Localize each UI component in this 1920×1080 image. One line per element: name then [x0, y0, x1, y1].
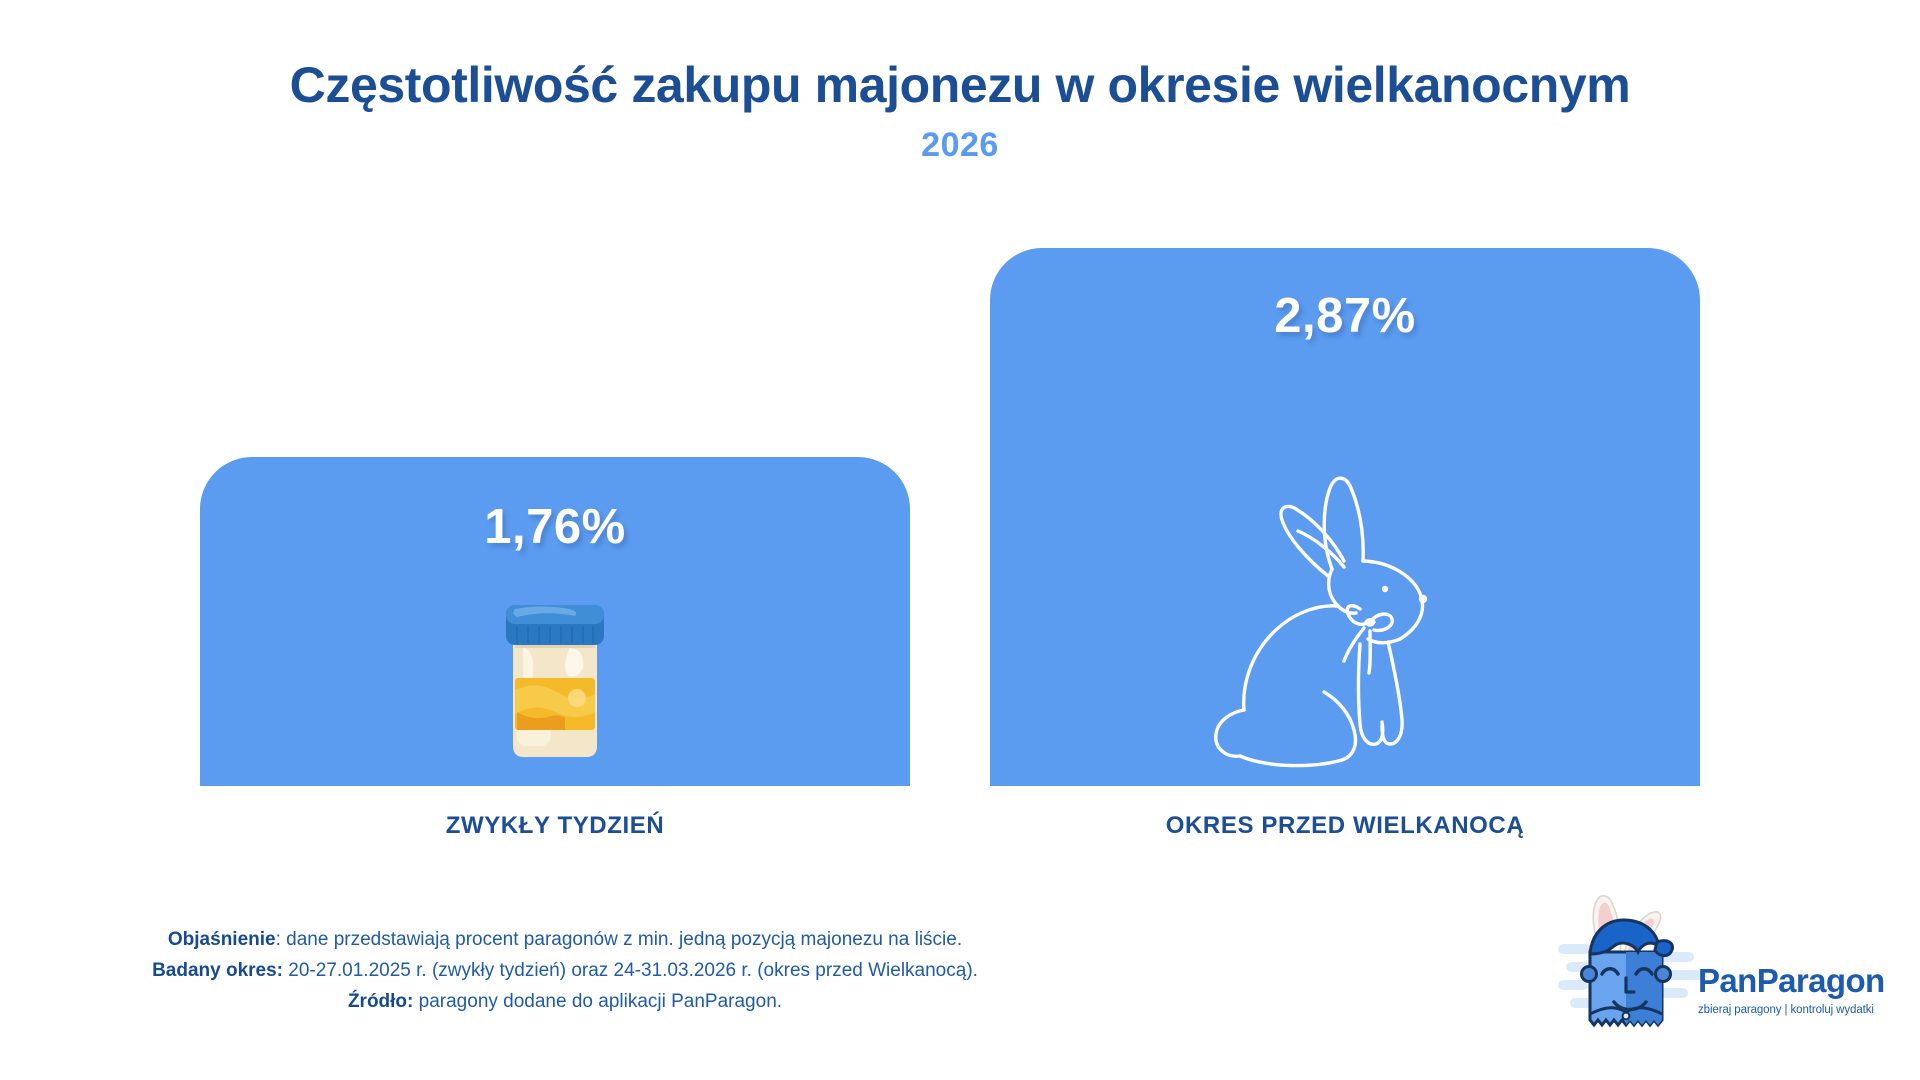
footnote-separator: :	[276, 929, 287, 950]
panparagon-logo[interactable]: PanParagon zbieraj paragony | kontroluj …	[1558, 894, 1868, 1044]
logo-text: PanParagon zbieraj paragony | kontroluj …	[1698, 964, 1868, 1016]
bar-value-label: 2,87%	[990, 288, 1700, 344]
footnote-label: Badany okres:	[152, 960, 283, 981]
footnote-badany-okres: Badany okres: 20-27.01.2025 r. (zwykły t…	[0, 956, 1130, 987]
bar-okres-przed-wielkanoca[interactable]: 2,87%	[990, 248, 1700, 786]
footnote-label: Źródło:	[348, 991, 413, 1012]
logo-wordmark: PanParagon	[1698, 964, 1868, 997]
footnote-text: dane przedstawiają procent paragonów z m…	[286, 929, 962, 950]
mayonnaise-jar-icon	[495, 594, 615, 764]
bar-category-label: OKRES PRZED WIELKANOCĄ	[990, 812, 1700, 840]
bar-group-zwykly-tydzien: 1,76%	[200, 457, 910, 786]
footnotes: Objaśnienie: dane przedstawiają procent …	[0, 925, 1130, 1017]
bar-zwykly-tydzien[interactable]: 1,76%	[200, 457, 910, 786]
bar-category-label: ZWYKŁY TYDZIEŃ	[200, 812, 910, 840]
footnote-zrodlo: Źródło: paragony dodane do aplikacji Pan…	[0, 987, 1130, 1018]
bunny-line-art-icon	[1210, 476, 1480, 776]
bar-value-label: 1,76%	[200, 499, 910, 555]
logo-tagline: zbieraj paragony | kontroluj wydatki	[1698, 1004, 1868, 1016]
footnote-text: paragony dodane do aplikacji PanParagon.	[419, 991, 782, 1012]
panparagon-mascot-icon	[1558, 894, 1708, 1040]
footnote-label: Objaśnienie	[168, 929, 276, 950]
footnote-objasnienie: Objaśnienie: dane przedstawiają procent …	[0, 925, 1130, 956]
footnote-text: 20-27.01.2025 r. (zwykły tydzień) oraz 2…	[288, 960, 978, 981]
bar-group-okres-przed-wielkanoca: 2,87%	[990, 248, 1700, 786]
